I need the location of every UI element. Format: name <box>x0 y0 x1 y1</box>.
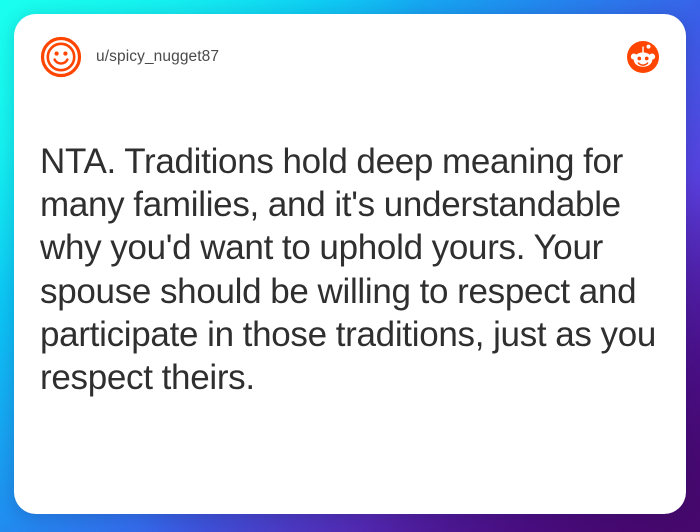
reddit-comment-card: u/spicy_nugget87 <box>14 14 686 514</box>
card-body: NTA. Traditions hold deep meaning for ma… <box>14 100 686 399</box>
post-text: NTA. Traditions hold deep meaning for ma… <box>40 140 660 399</box>
card-header: u/spicy_nugget87 <box>14 14 686 100</box>
username-label: u/spicy_nugget87 <box>96 48 219 66</box>
reddit-snoo-icon <box>626 40 660 74</box>
smiley-face-avatar-icon <box>40 36 82 78</box>
gradient-background: u/spicy_nugget87 <box>0 0 700 532</box>
